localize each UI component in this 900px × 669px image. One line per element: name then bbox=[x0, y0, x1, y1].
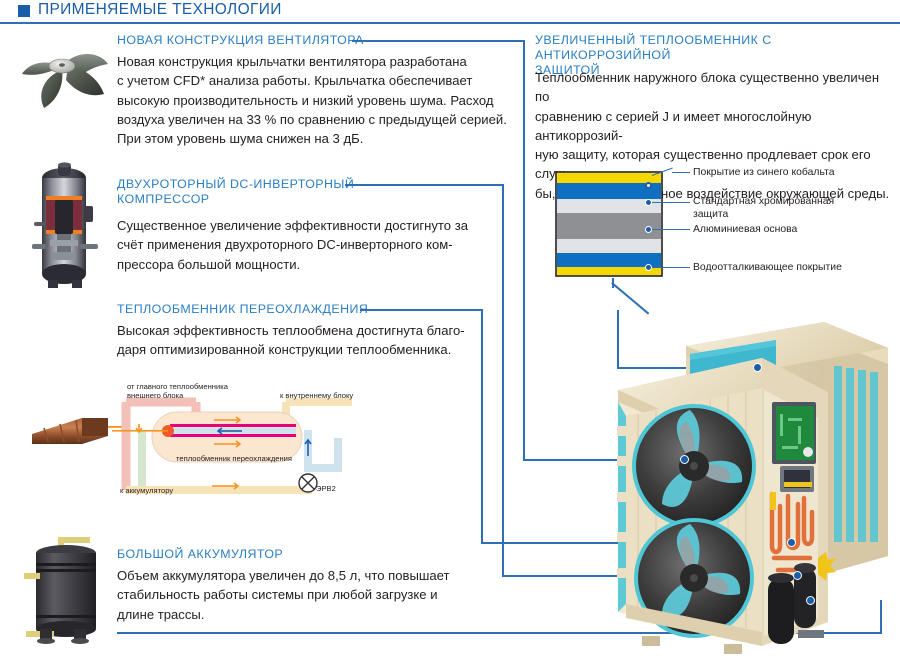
unit-dot-compressor bbox=[793, 571, 802, 580]
stack-label-aluminium: Алюминиевая основа bbox=[693, 223, 797, 236]
accumulator-icon bbox=[22, 527, 116, 645]
technology-page: ПРИМЕНЯЕМЫЕ ТЕХНОЛОГИИ НОВАЯ КОНСТРУКЦИЯ… bbox=[0, 0, 900, 669]
schematic-label-valve: ЭРВ2 bbox=[316, 484, 336, 493]
unit-dot-heat-exchanger bbox=[753, 363, 762, 372]
page-header: ПРИМЕНЯЕМЫЕ ТЕХНОЛОГИИ bbox=[0, 0, 900, 24]
stack-leader-chrome bbox=[652, 202, 690, 203]
stack-leader-aluminium bbox=[652, 229, 690, 230]
outdoor-unit-illustration bbox=[612, 306, 900, 658]
connector-fan-vertical bbox=[523, 40, 525, 460]
compressor-icon bbox=[28, 162, 100, 290]
section-body-fan: Новая конструкция крыльчатки вентилятора… bbox=[117, 52, 507, 148]
connector-compressor-vertical bbox=[502, 184, 504, 576]
section-title-subcooling: ТЕПЛООБМЕННИК ПЕРЕОХЛАЖДЕНИЯ bbox=[117, 302, 368, 317]
stack-label-chrome: Стандартная хромированная защита bbox=[693, 195, 834, 221]
section-body-subcooling: Высокая эффективность теплообмена достиг… bbox=[117, 321, 465, 360]
stack-leader-cobalt-flat bbox=[672, 172, 690, 173]
fan-impeller-icon bbox=[18, 36, 114, 114]
connector-compressor-horizontal bbox=[345, 184, 504, 186]
connector-subcooling-vertical bbox=[481, 309, 483, 543]
stack-dot-chrome bbox=[645, 199, 652, 206]
section-title-compressor: ДВУХРОТОРНЫЙ DC-ИНВЕРТОРНЫЙ КОМПРЕССОР bbox=[117, 177, 354, 207]
unit-dot-accumulator bbox=[806, 596, 815, 605]
page-title: ПРИМЕНЯЕМЫЕ ТЕХНОЛОГИИ bbox=[38, 1, 282, 19]
stack-dot-aluminium bbox=[645, 226, 652, 233]
section-title-accumulator: БОЛЬШОЙ АККУМУЛЯТОР bbox=[117, 547, 283, 562]
connector-subcooling-horizontal bbox=[360, 309, 483, 311]
schematic-label-from-main: от главного теплообменника внешнего блок… bbox=[127, 382, 228, 401]
stack-label-water-repellent: Водоотталкивающее покрытие bbox=[693, 261, 842, 274]
schematic-label-to-accumulator: к аккумулятору bbox=[120, 486, 173, 495]
schematic-label-exchanger: теплообменник переохлаждения bbox=[176, 454, 292, 463]
section-title-fan: НОВАЯ КОНСТРУКЦИЯ ВЕНТИЛЯТОРА bbox=[117, 33, 364, 48]
stack-leader-water-repellent bbox=[652, 267, 690, 268]
unit-dot-subcooling bbox=[787, 538, 796, 547]
section-body-compressor: Существенное увеличение эффективности до… bbox=[117, 216, 468, 274]
header-bullet-icon bbox=[18, 5, 30, 17]
stack-dot-water-repellent bbox=[645, 264, 652, 271]
section-body-accumulator: Объем аккумулятора увеличен до 8,5 л, чт… bbox=[117, 566, 450, 624]
copper-pipe-icon bbox=[22, 404, 126, 456]
stack-label-cobalt: Покрытие из синего кобальта bbox=[693, 166, 835, 179]
unit-dot-fan bbox=[680, 455, 689, 464]
stack-dot-cobalt bbox=[645, 182, 652, 189]
schematic-label-to-indoor: к внутреннему блоку bbox=[280, 391, 353, 400]
connector-fan-horizontal bbox=[352, 40, 524, 42]
header-divider bbox=[0, 22, 900, 24]
